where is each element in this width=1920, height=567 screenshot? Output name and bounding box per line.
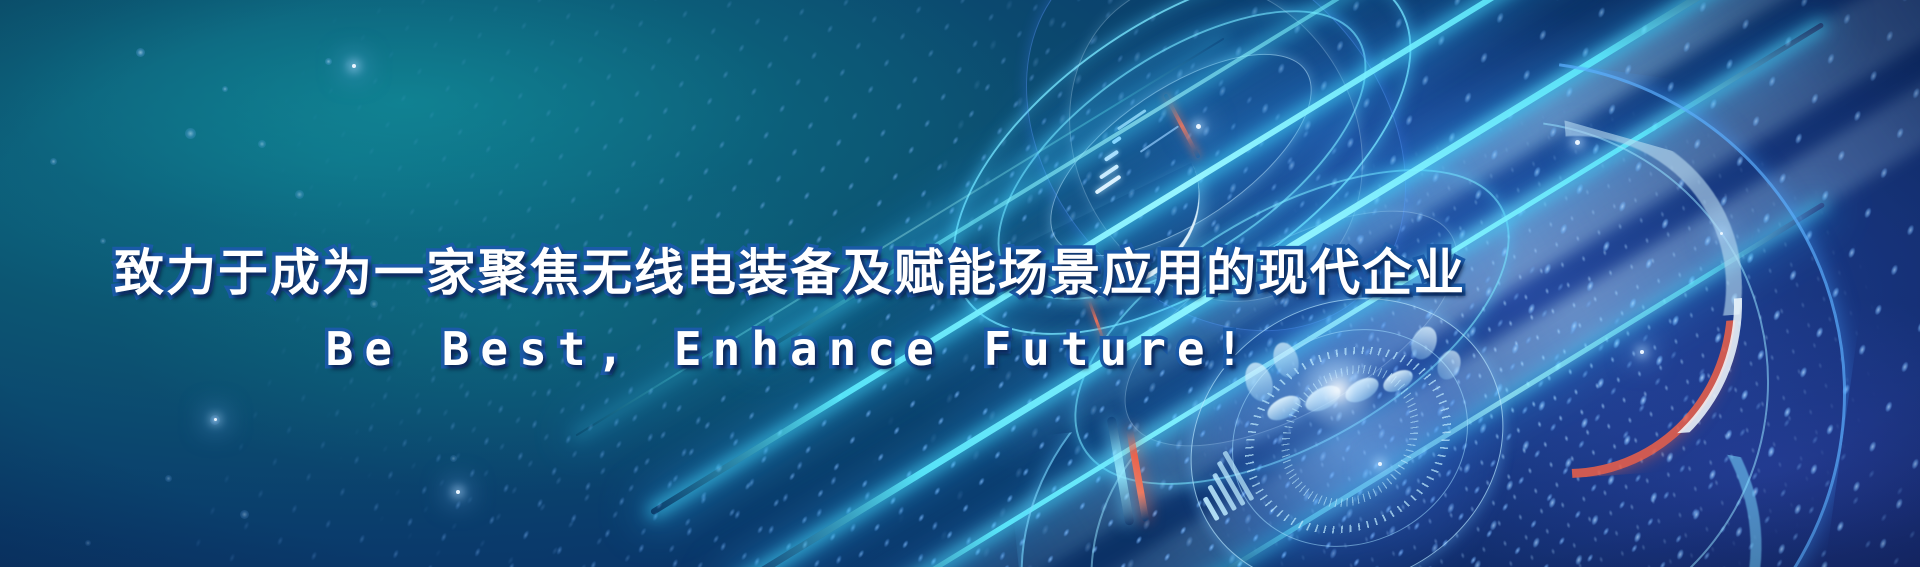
banner-headline-english: Be Best, Enhance Future! — [0, 314, 1580, 384]
hero-banner: 致力于成为一家聚焦无线电装备及赋能场景应用的现代企业 Be Best, Enha… — [0, 0, 1920, 567]
banner-headline-chinese: 致力于成为一家聚焦无线电装备及赋能场景应用的现代企业 — [0, 236, 1580, 310]
banner-text-block: 致力于成为一家聚焦无线电装备及赋能场景应用的现代企业 Be Best, Enha… — [0, 236, 1580, 384]
